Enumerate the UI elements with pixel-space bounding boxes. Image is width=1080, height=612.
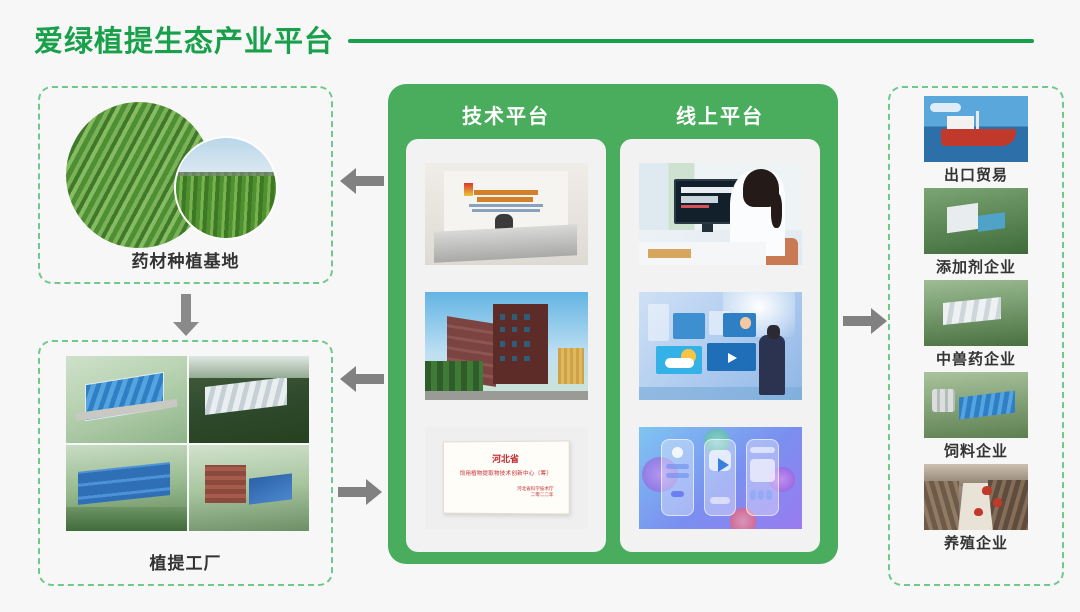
page-header: 爱绿植提生态产业平台 [34, 18, 1034, 60]
factory-aerial-blue-roof-photo [66, 356, 187, 443]
extraction-factory-box[interactable]: 植提工厂 [38, 340, 333, 586]
plaque-issuer: 河北省科学技术厅 二零二二年 [518, 485, 554, 499]
office-building-photo [425, 292, 588, 400]
poultry-house-photo [924, 464, 1028, 530]
feed-plant-aerial-photo [924, 372, 1028, 438]
factory-brick-building-photo [189, 445, 310, 532]
technology-platform-column[interactable]: 技术平台 [406, 94, 606, 564]
enterprise-label-additive: 添加剂企业 [890, 256, 1062, 277]
factory-aerial-solar-roof-photo [66, 445, 187, 532]
veterinary-plant-aerial-photo [924, 280, 1028, 346]
planting-base-box[interactable]: 药材种植基地 [38, 86, 333, 284]
enterprise-label-export-trade: 出口贸易 [890, 164, 1062, 185]
planting-base-caption: 药材种植基地 [40, 247, 331, 272]
plaque-title: 河北省 [444, 451, 569, 465]
downstream-enterprises-box[interactable]: 出口贸易 添加剂企业 中兽药企业 饲料企业 养殖企业 [888, 86, 1064, 586]
arrow-center-to-factory-icon [338, 364, 384, 394]
additive-plant-aerial-photo [924, 188, 1028, 254]
enterprise-item-veterinary[interactable]: 中兽药企业 [890, 280, 1062, 369]
center-platform-panel[interactable]: 技术平台 [388, 84, 838, 564]
plaque-main-text: 饲用植物提取物技术创新中心（筹） [444, 469, 569, 477]
herb-field-horizon-photo [174, 136, 278, 240]
online-platform-heading: 线上平台 [620, 94, 820, 139]
online-platform-card [620, 139, 820, 552]
lab-lobby-photo [425, 163, 588, 265]
enterprise-label-breeding: 养殖企业 [890, 532, 1062, 553]
technology-platform-card: 河北省 饲用植物提取物技术创新中心（筹） 河北省科学技术厅 二零二二年 [406, 139, 606, 552]
floating-ui-panels-photo [639, 292, 802, 400]
enterprise-item-breeding[interactable]: 养殖企业 [890, 464, 1062, 553]
extraction-factory-images [66, 356, 309, 531]
arrow-factory-to-center-icon [338, 477, 384, 507]
enterprise-label-veterinary: 中兽药企业 [890, 348, 1062, 369]
plaque-issuer-year: 二零二二年 [518, 492, 554, 499]
extraction-factory-caption: 植提工厂 [40, 549, 331, 574]
cargo-ship-photo [924, 96, 1028, 162]
enterprise-label-feed: 饲料企业 [890, 440, 1062, 461]
arrow-planting-to-factory-icon [171, 294, 201, 338]
title-rule [348, 39, 1034, 43]
enterprise-item-feed[interactable]: 饲料企业 [890, 372, 1062, 461]
arrow-center-to-enterprises-icon [843, 306, 889, 336]
woman-at-computer-photo [639, 163, 802, 265]
certificate-plaque-photo: 河北省 饲用植物提取物技术创新中心（筹） 河北省科学技术厅 二零二二年 [425, 427, 588, 529]
mobile-app-mockups-photo [639, 427, 802, 529]
enterprise-item-additive[interactable]: 添加剂企业 [890, 188, 1062, 277]
technology-platform-heading: 技术平台 [406, 94, 606, 139]
planting-base-images [62, 98, 312, 248]
enterprise-item-export-trade[interactable]: 出口贸易 [890, 96, 1062, 185]
factory-aerial-mountain-photo [189, 356, 310, 443]
online-platform-column[interactable]: 线上平台 [620, 94, 820, 564]
page-title: 爱绿植提生态产业平台 [34, 18, 334, 60]
arrow-center-to-planting-icon [338, 166, 384, 196]
